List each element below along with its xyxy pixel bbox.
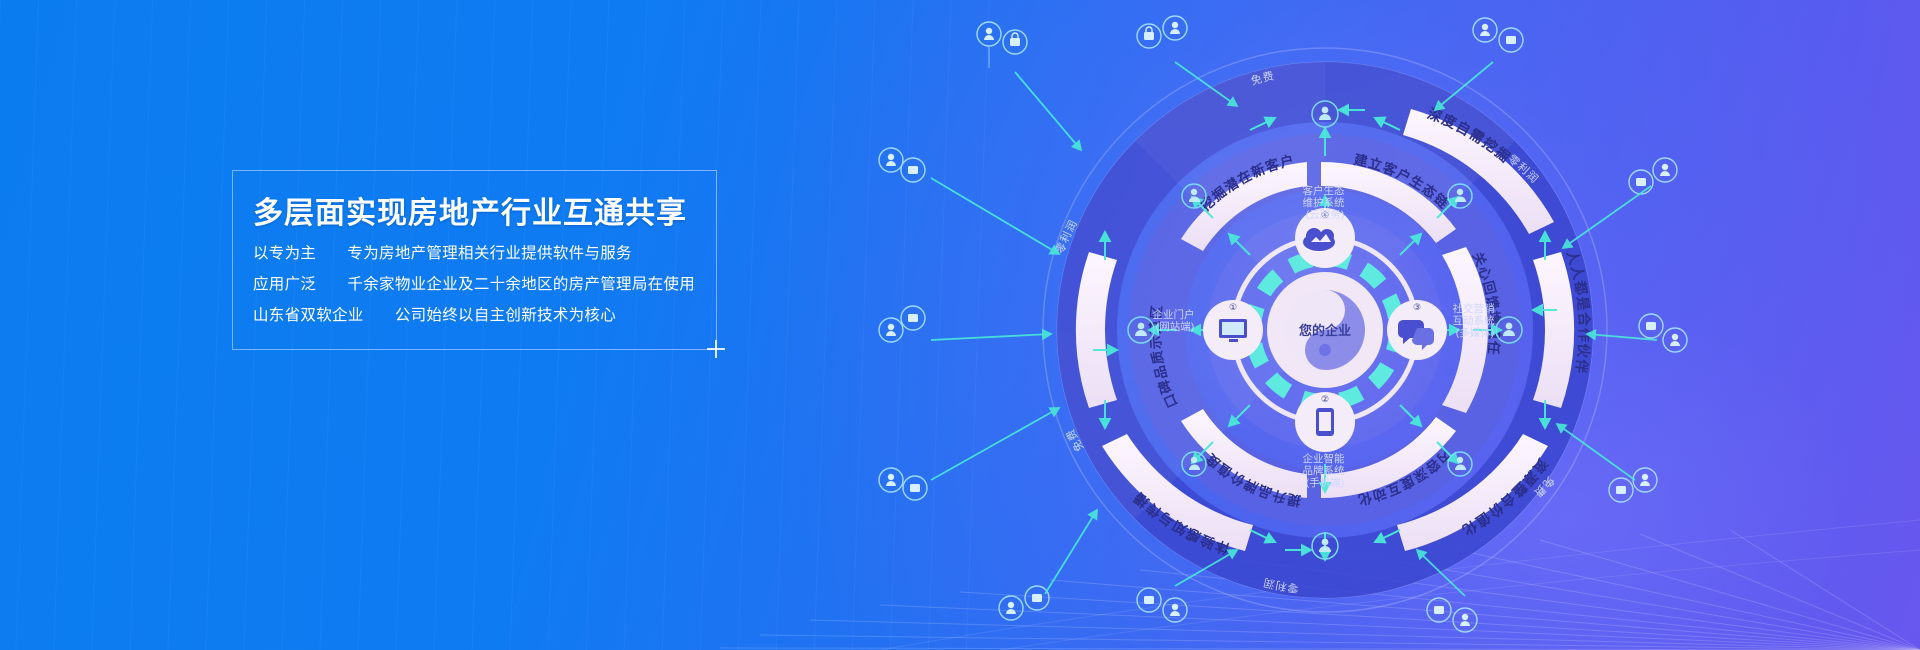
external-actor bbox=[1137, 16, 1187, 48]
feature-label: 以专为主 bbox=[253, 238, 316, 269]
inner-node-right: ③ bbox=[1387, 300, 1447, 360]
feature-label: 山东省双软企业 bbox=[253, 300, 364, 331]
node-caption-right: 社交营销 互动系统 (多媒体) bbox=[1453, 302, 1498, 339]
feature-label: 应用广泛 bbox=[253, 269, 316, 300]
banner-stage: 多层面实现房地产行业互通共享 以专为主 专为房地产管理相关行业提供软件与服务 应… bbox=[0, 0, 1920, 650]
inner-node-left: ① bbox=[1203, 300, 1263, 360]
external-actor bbox=[1137, 588, 1187, 622]
feature-line: 以专为主 专为房地产管理相关行业提供软件与服务 bbox=[253, 238, 723, 269]
phone-icon bbox=[1316, 408, 1334, 436]
external-actor bbox=[879, 148, 925, 182]
inner-node-bottom: ② bbox=[1295, 392, 1355, 452]
external-actor bbox=[977, 22, 1027, 68]
cloud-icon bbox=[1303, 228, 1335, 251]
ecosystem-svg: 建立客户生态链 关心回馈增值任 内容深度互动化 提升品牌价值度 口碑品质示范区 … bbox=[845, 10, 1805, 650]
node-caption-bottom: 企业智能 品牌系统 (手机端) bbox=[1303, 452, 1348, 489]
node-caption-top: 客户生态 维护系统 (云服务) bbox=[1303, 184, 1348, 221]
node-number: ① bbox=[1229, 302, 1237, 312]
feature-text: 公司始终以自主创新技术为核心 bbox=[395, 307, 616, 324]
feature-text: 千余家物业企业及二十余地区的房产管理局在使用 bbox=[347, 276, 695, 293]
external-actor bbox=[879, 306, 925, 342]
feature-line: 应用广泛 千余家物业企业及二十余地区的房产管理局在使用 bbox=[253, 269, 723, 300]
ecosystem-diagram: 建立客户生态链 关心回馈增值任 内容深度互动化 提升品牌价值度 口碑品质示范区 … bbox=[845, 10, 1805, 650]
feature-line-list: 以专为主 专为房地产管理相关行业提供软件与服务 应用广泛 千余家物业企业及二十余… bbox=[253, 238, 723, 331]
external-actor bbox=[1473, 18, 1523, 52]
external-actor bbox=[879, 468, 927, 500]
panel-corner-plus-icon bbox=[707, 340, 725, 358]
node-caption-left: 企业门户 (网站端) bbox=[1153, 308, 1198, 333]
external-actor bbox=[999, 586, 1049, 620]
feature-text: 专为房地产管理相关行业提供软件与服务 bbox=[347, 245, 631, 262]
external-actor bbox=[1629, 158, 1677, 194]
feature-line: 山东省双软企业 公司始终以自主创新技术为核心 bbox=[253, 300, 723, 331]
node-number: ③ bbox=[1413, 302, 1421, 312]
node-number: ② bbox=[1321, 394, 1329, 404]
external-actor bbox=[1609, 468, 1657, 502]
page-title: 多层面实现房地产行业互通共享 bbox=[253, 188, 687, 232]
external-actor bbox=[1427, 598, 1477, 632]
center-label: 您的企业 bbox=[1299, 323, 1351, 338]
external-actor bbox=[1639, 314, 1687, 352]
